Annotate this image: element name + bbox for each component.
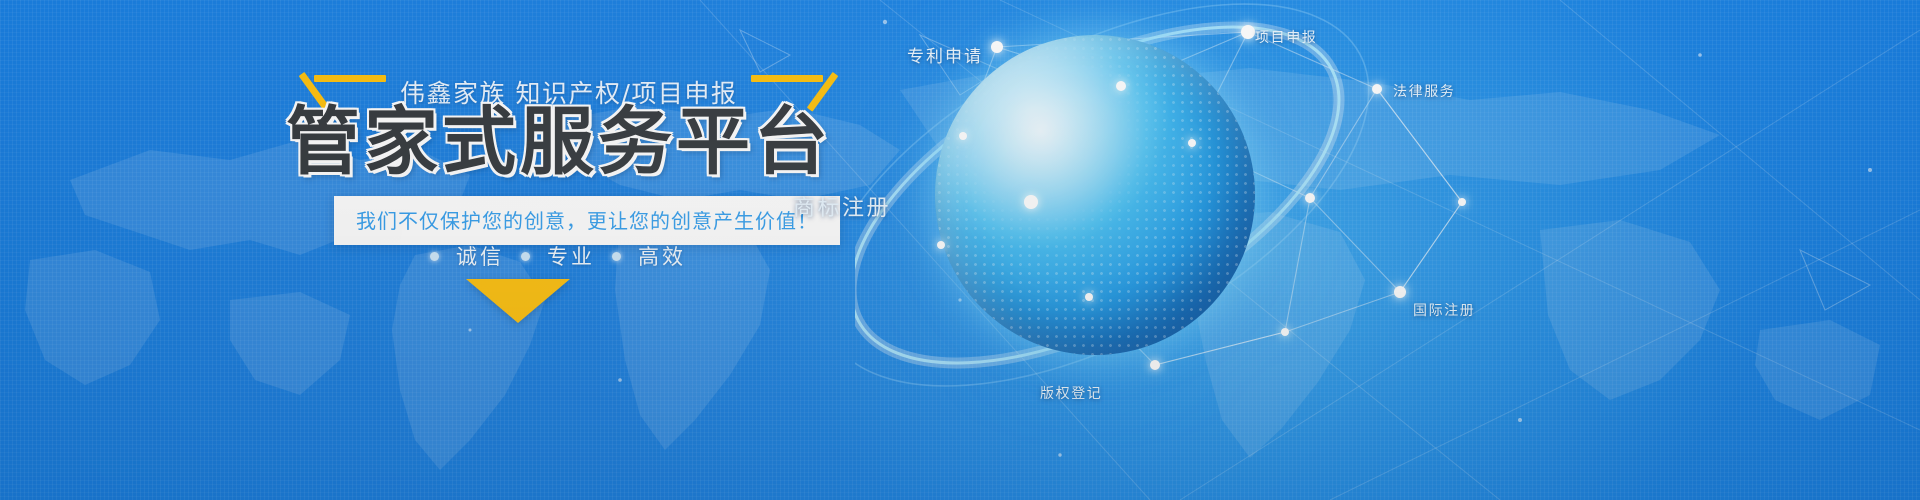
network-node-dot: [1188, 139, 1196, 147]
feature-item: 诚信: [456, 241, 504, 271]
network-node-dot: [959, 132, 967, 140]
globe-network-graphic: 项目申报专利申请法律服务商标注册国际注册版权登记: [855, 0, 1920, 500]
feature-item: 高效: [638, 241, 686, 271]
subtitle-text: 我们不仅保护您的创意，更让您的创意产生价值！: [356, 209, 818, 233]
network-node-dot: [1458, 198, 1466, 206]
network-node-dot: [1024, 195, 1038, 209]
feature-item: 专业: [547, 241, 595, 271]
subtitle-box: 我们不仅保护您的创意，更让您的创意产生价值！: [334, 196, 840, 245]
network-node-dot: [1085, 293, 1093, 301]
network-node-dot: [1372, 84, 1382, 94]
globe-sphere: [935, 35, 1255, 355]
network-node-dot: [1394, 286, 1406, 298]
service-label: 国际注册: [1413, 300, 1475, 320]
network-node-dot: [1241, 25, 1255, 39]
hero-banner: 伟鑫家族 知识产权/项目申报 管家式服务平台 我们不仅保护您的创意，更让您的创意…: [0, 0, 1920, 500]
service-label: 版权登记: [1040, 383, 1102, 403]
service-label: 项目申报: [1255, 27, 1317, 47]
network-node-dot: [1116, 81, 1126, 91]
feature-list: 诚信 专业 高效: [430, 241, 686, 271]
service-label: 商标注册: [793, 190, 891, 222]
bullet-dot-icon: [430, 252, 439, 261]
network-node-dot: [1305, 193, 1315, 203]
network-node-dot: [1281, 328, 1289, 336]
network-node-dot: [991, 41, 1003, 53]
headline-block: 伟鑫家族 知识产权/项目申报 管家式服务平台 我们不仅保护您的创意，更让您的创意…: [0, 0, 840, 500]
network-node-dot: [1150, 360, 1160, 370]
triangle-down-yellow-icon: [466, 279, 570, 323]
service-label: 专利申请: [907, 42, 983, 67]
page-title: 管家式服务平台: [286, 105, 832, 179]
service-label: 法律服务: [1393, 81, 1455, 101]
globe-highlight: [935, 35, 1255, 355]
bullet-dot-icon: [521, 252, 530, 261]
network-node-dot: [937, 241, 945, 249]
bullet-dot-icon: [612, 252, 621, 261]
